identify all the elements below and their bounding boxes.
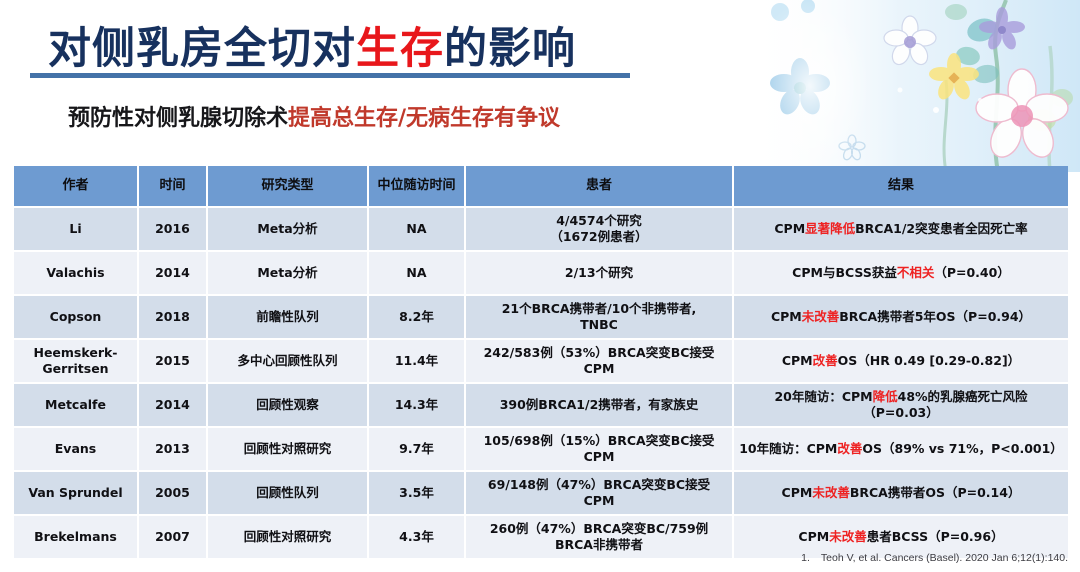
studies-table: 作者 时间 研究类型 中位随访时间 患者 结果 Li2016Meta分析NA4/… — [14, 166, 1068, 560]
column-header-follow-up: 中位随访时间 — [368, 166, 465, 207]
result-text: BRCA携带者OS（P=0.14） — [850, 485, 1021, 500]
cell-follow-up: 4.3年 — [368, 515, 465, 559]
column-header-year: 时间 — [138, 166, 207, 207]
page-title-part1: 对侧乳房全切对 — [48, 24, 356, 74]
cell-author: Copson — [14, 295, 138, 339]
cell-author: Li — [14, 207, 138, 251]
result-text: （P=0.03） — [863, 405, 938, 420]
cell-result: CPM与BCSS获益不相关（P=0.40） — [733, 251, 1068, 295]
result-highlight: 不相关 — [897, 265, 935, 280]
table-row: Li2016Meta分析NA4/4574个研究（1672例患者）CPM显著降低B… — [14, 207, 1068, 251]
cell-result: CPM未改善BRCA携带者OS（P=0.14） — [733, 471, 1068, 515]
cell-study-type: 回顾性队列 — [207, 471, 368, 515]
cell-year: 2014 — [138, 251, 207, 295]
cell-result: CPM显著降低BRCA1/2突变患者全因死亡率 — [733, 207, 1068, 251]
subtitle-part1: 预防性对侧乳腺切除术 — [68, 106, 288, 131]
table-header-row: 作者 时间 研究类型 中位随访时间 患者 结果 — [14, 166, 1068, 207]
cell-patients: 2/13个研究 — [465, 251, 733, 295]
result-text: 20年随访：CPM — [774, 389, 872, 404]
cell-patients: 242/583例（53%）BRCA突变BC接受CPM — [465, 339, 733, 383]
cell-patients: 390例BRCA1/2携带者，有家族史 — [465, 383, 733, 427]
cell-patients: 105/698例（15%）BRCA突变BC接受CPM — [465, 427, 733, 471]
result-highlight: 未改善 — [829, 529, 867, 544]
page-title: 对侧乳房全切对生存的影响 — [48, 14, 576, 76]
table-row: Valachis2014Meta分析NA2/13个研究CPM与BCSS获益不相关… — [14, 251, 1068, 295]
result-highlight: 未改善 — [802, 309, 840, 324]
result-text: CPM — [774, 221, 805, 236]
column-header-study-type: 研究类型 — [207, 166, 368, 207]
result-text: CPM与BCSS获益 — [792, 265, 897, 280]
floral-decoration — [750, 0, 1080, 172]
result-highlight: 降低 — [873, 389, 898, 404]
cell-study-type: 多中心回顾性队列 — [207, 339, 368, 383]
column-header-patients: 患者 — [465, 166, 733, 207]
result-text: CPM — [782, 353, 813, 368]
result-text: CPM — [782, 485, 813, 500]
cell-author: Metcalfe — [14, 383, 138, 427]
cell-author: Evans — [14, 427, 138, 471]
footnote-reference: 1.Teoh V, et al. Cancers (Basel). 2020 J… — [801, 552, 1068, 564]
cell-year: 2007 — [138, 515, 207, 559]
table-row: Copson2018前瞻性队列8.2年21个BRCA携带者/10个非携带者,TN… — [14, 295, 1068, 339]
cell-patients: 4/4574个研究（1672例患者） — [465, 207, 733, 251]
cell-year: 2013 — [138, 427, 207, 471]
result-highlight: 未改善 — [812, 485, 850, 500]
footnote-number: 1. — [801, 552, 810, 564]
cell-year: 2005 — [138, 471, 207, 515]
result-text: OS（89% vs 71%，P<0.001） — [862, 441, 1062, 456]
result-highlight: 显著降低 — [805, 221, 855, 236]
table-row: Evans2013回顾性对照研究9.7年105/698例（15%）BRCA突变B… — [14, 427, 1068, 471]
result-text: CPM — [798, 529, 829, 544]
cell-study-type: 回顾性对照研究 — [207, 427, 368, 471]
cell-study-type: 回顾性对照研究 — [207, 515, 368, 559]
cell-year: 2014 — [138, 383, 207, 427]
cell-follow-up: NA — [368, 251, 465, 295]
subtitle-highlight: 提高总生存/无病生存有争议 — [288, 106, 560, 131]
cell-patients: 69/148例（47%）BRCA突变BC接受CPM — [465, 471, 733, 515]
column-header-author: 作者 — [14, 166, 138, 207]
cell-author: Van Sprundel — [14, 471, 138, 515]
cell-patients: 21个BRCA携带者/10个非携带者,TNBC — [465, 295, 733, 339]
cell-author: Brekelmans — [14, 515, 138, 559]
cell-year: 2018 — [138, 295, 207, 339]
result-text: 患者BCSS（P=0.96） — [867, 529, 1004, 544]
cell-result: 10年随访：CPM改善OS（89% vs 71%，P<0.001） — [733, 427, 1068, 471]
cell-study-type: Meta分析 — [207, 207, 368, 251]
table-row: Van Sprundel2005回顾性队列3.5年69/148例（47%）BRC… — [14, 471, 1068, 515]
table-row: Metcalfe2014回顾性观察14.3年390例BRCA1/2携带者，有家族… — [14, 383, 1068, 427]
cell-follow-up: NA — [368, 207, 465, 251]
table-row: Heemskerk-Gerritsen2015多中心回顾性队列11.4年242/… — [14, 339, 1068, 383]
cell-follow-up: 3.5年 — [368, 471, 465, 515]
cell-follow-up: 8.2年 — [368, 295, 465, 339]
cell-follow-up: 9.7年 — [368, 427, 465, 471]
cell-follow-up: 14.3年 — [368, 383, 465, 427]
cell-study-type: Meta分析 — [207, 251, 368, 295]
result-text: （P=0.40） — [934, 265, 1009, 280]
cell-follow-up: 11.4年 — [368, 339, 465, 383]
result-highlight: 改善 — [813, 353, 838, 368]
column-header-result: 结果 — [733, 166, 1068, 207]
page-title-highlight: 生存 — [356, 24, 444, 74]
cell-year: 2015 — [138, 339, 207, 383]
page-title-part2: 的影响 — [444, 24, 576, 74]
title-underline-rule — [30, 73, 630, 78]
cell-author: Valachis — [14, 251, 138, 295]
cell-study-type: 回顾性观察 — [207, 383, 368, 427]
cell-study-type: 前瞻性队列 — [207, 295, 368, 339]
result-text: 10年随访：CPM — [739, 441, 837, 456]
cell-result: CPM改善OS（HR 0.49 [0.29-0.82]） — [733, 339, 1068, 383]
result-text: BRCA携带者5年OS（P=0.94） — [839, 309, 1031, 324]
table-body: Li2016Meta分析NA4/4574个研究（1672例患者）CPM显著降低B… — [14, 207, 1068, 559]
subtitle: 预防性对侧乳腺切除术提高总生存/无病生存有争议 — [68, 100, 560, 132]
cell-result: CPM未改善BRCA携带者5年OS（P=0.94） — [733, 295, 1068, 339]
footnote-text: Teoh V, et al. Cancers (Basel). 2020 Jan… — [821, 552, 1068, 564]
result-highlight: 改善 — [837, 441, 862, 456]
cell-year: 2016 — [138, 207, 207, 251]
cell-patients: 260例（47%）BRCA突变BC/759例BRCA非携带者 — [465, 515, 733, 559]
cell-author: Heemskerk-Gerritsen — [14, 339, 138, 383]
result-text: 48%的乳腺癌死亡风险 — [898, 389, 1028, 404]
result-text: BRCA1/2突变患者全因死亡率 — [855, 221, 1027, 236]
result-text: OS（HR 0.49 [0.29-0.82]） — [838, 353, 1021, 368]
cell-result: 20年随访：CPM降低48%的乳腺癌死亡风险（P=0.03） — [733, 383, 1068, 427]
result-text: CPM — [771, 309, 802, 324]
